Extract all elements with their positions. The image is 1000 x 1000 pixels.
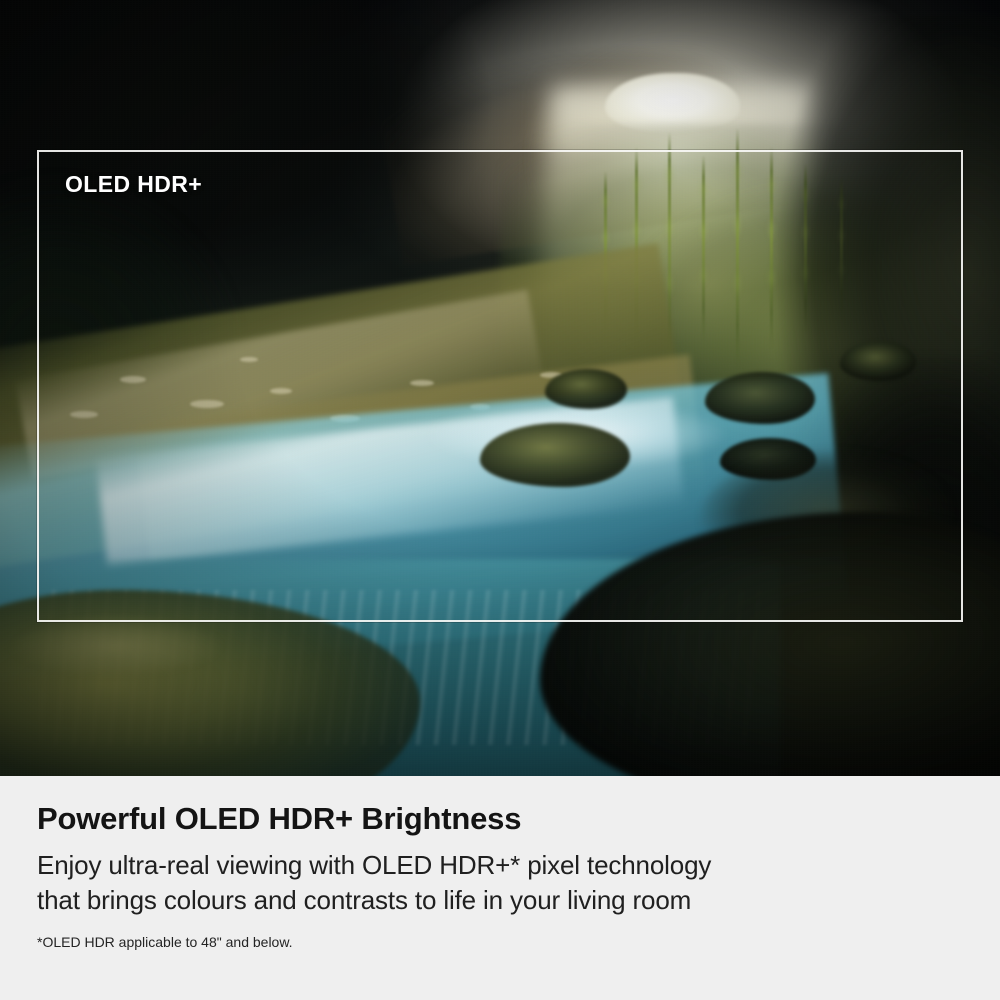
cave-opening-sky xyxy=(605,73,740,132)
hero-image: OLED HDR+ xyxy=(0,0,1000,776)
caption-content: Powerful OLED HDR+ Brightness Enjoy ultr… xyxy=(37,776,970,950)
caption-panel: Powerful OLED HDR+ Brightness Enjoy ultr… xyxy=(0,776,1000,1000)
foreground-mossy-rock-highlight xyxy=(10,613,250,691)
caption-body-line-1: Enjoy ultra-real viewing with OLED HDR+*… xyxy=(37,848,970,883)
caption-footnote: *OLED HDR applicable to 48" and below. xyxy=(37,918,970,950)
caption-title: Powerful OLED HDR+ Brightness xyxy=(37,776,970,836)
caption-body-line-2: that brings colours and contrasts to lif… xyxy=(37,883,970,918)
tv-screen-frame xyxy=(37,150,963,622)
caption-body: Enjoy ultra-real viewing with OLED HDR+*… xyxy=(37,836,970,918)
oled-hdr-plus-badge: OLED HDR+ xyxy=(65,171,202,198)
product-feature-card: OLED HDR+ Powerful OLED HDR+ Brightness … xyxy=(0,0,1000,1000)
